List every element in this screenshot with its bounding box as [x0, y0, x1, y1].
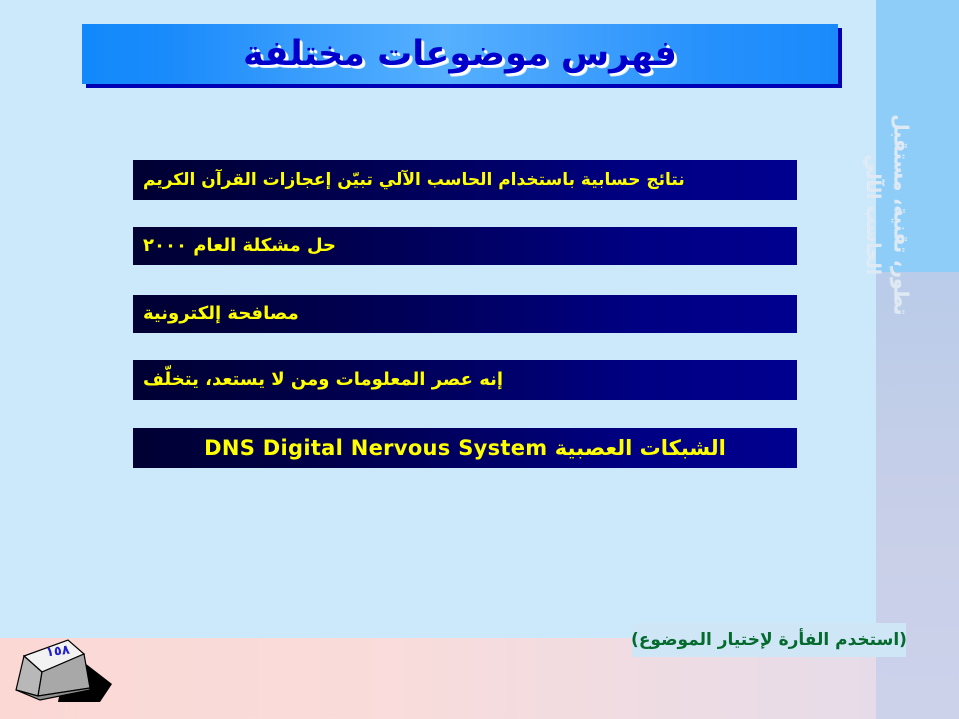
menu-item-label: إنه عصر المعلومات ومن لا يستعد، يتخلّف: [143, 371, 503, 389]
page-number-text: ١٥٨: [45, 643, 70, 661]
mouse-instruction-text: (استخدم الفأرة لإختيار الموضوع): [631, 630, 907, 650]
menu-item-1[interactable]: نتائج حسابية باستخدام الحاسب الآلي تبيّن…: [133, 160, 797, 200]
menu-item-5[interactable]: الشبكات العصبية DNS Digital Nervous Syst…: [133, 428, 797, 468]
menu-item-3[interactable]: مصافحة إلكترونية: [133, 295, 797, 333]
keycap-icon: [12, 628, 132, 716]
slide-canvas: تطور، تقنية، مستقبل الحاسب الآلي فهرس مو…: [0, 0, 959, 719]
menu-item-label: حل مشكلة العام ٢٠٠٠: [143, 237, 336, 255]
sidebar-caption-line-2: الحاسب الآلي: [860, 45, 886, 385]
page-number-keycap: ١٥٨: [12, 628, 132, 716]
sidebar-vertical-caption: تطور، تقنية، مستقبل الحاسب الآلي: [860, 45, 914, 385]
mouse-instruction-note: (استخدم الفأرة لإختيار الموضوع): [632, 623, 906, 657]
menu-item-4[interactable]: إنه عصر المعلومات ومن لا يستعد، يتخلّف: [133, 360, 797, 400]
menu-item-label: الشبكات العصبية DNS Digital Nervous Syst…: [204, 438, 726, 459]
menu-item-label: نتائج حسابية باستخدام الحاسب الآلي تبيّن…: [143, 172, 685, 189]
menu-item-2[interactable]: حل مشكلة العام ٢٠٠٠: [133, 227, 797, 265]
sidebar-caption-line-1: تطور، تقنية، مستقبل: [890, 114, 912, 315]
menu-item-label: مصافحة إلكترونية: [143, 305, 299, 323]
title-banner: فهرس موضوعات مختلفة: [82, 24, 838, 84]
page-title: فهرس موضوعات مختلفة: [243, 34, 677, 74]
